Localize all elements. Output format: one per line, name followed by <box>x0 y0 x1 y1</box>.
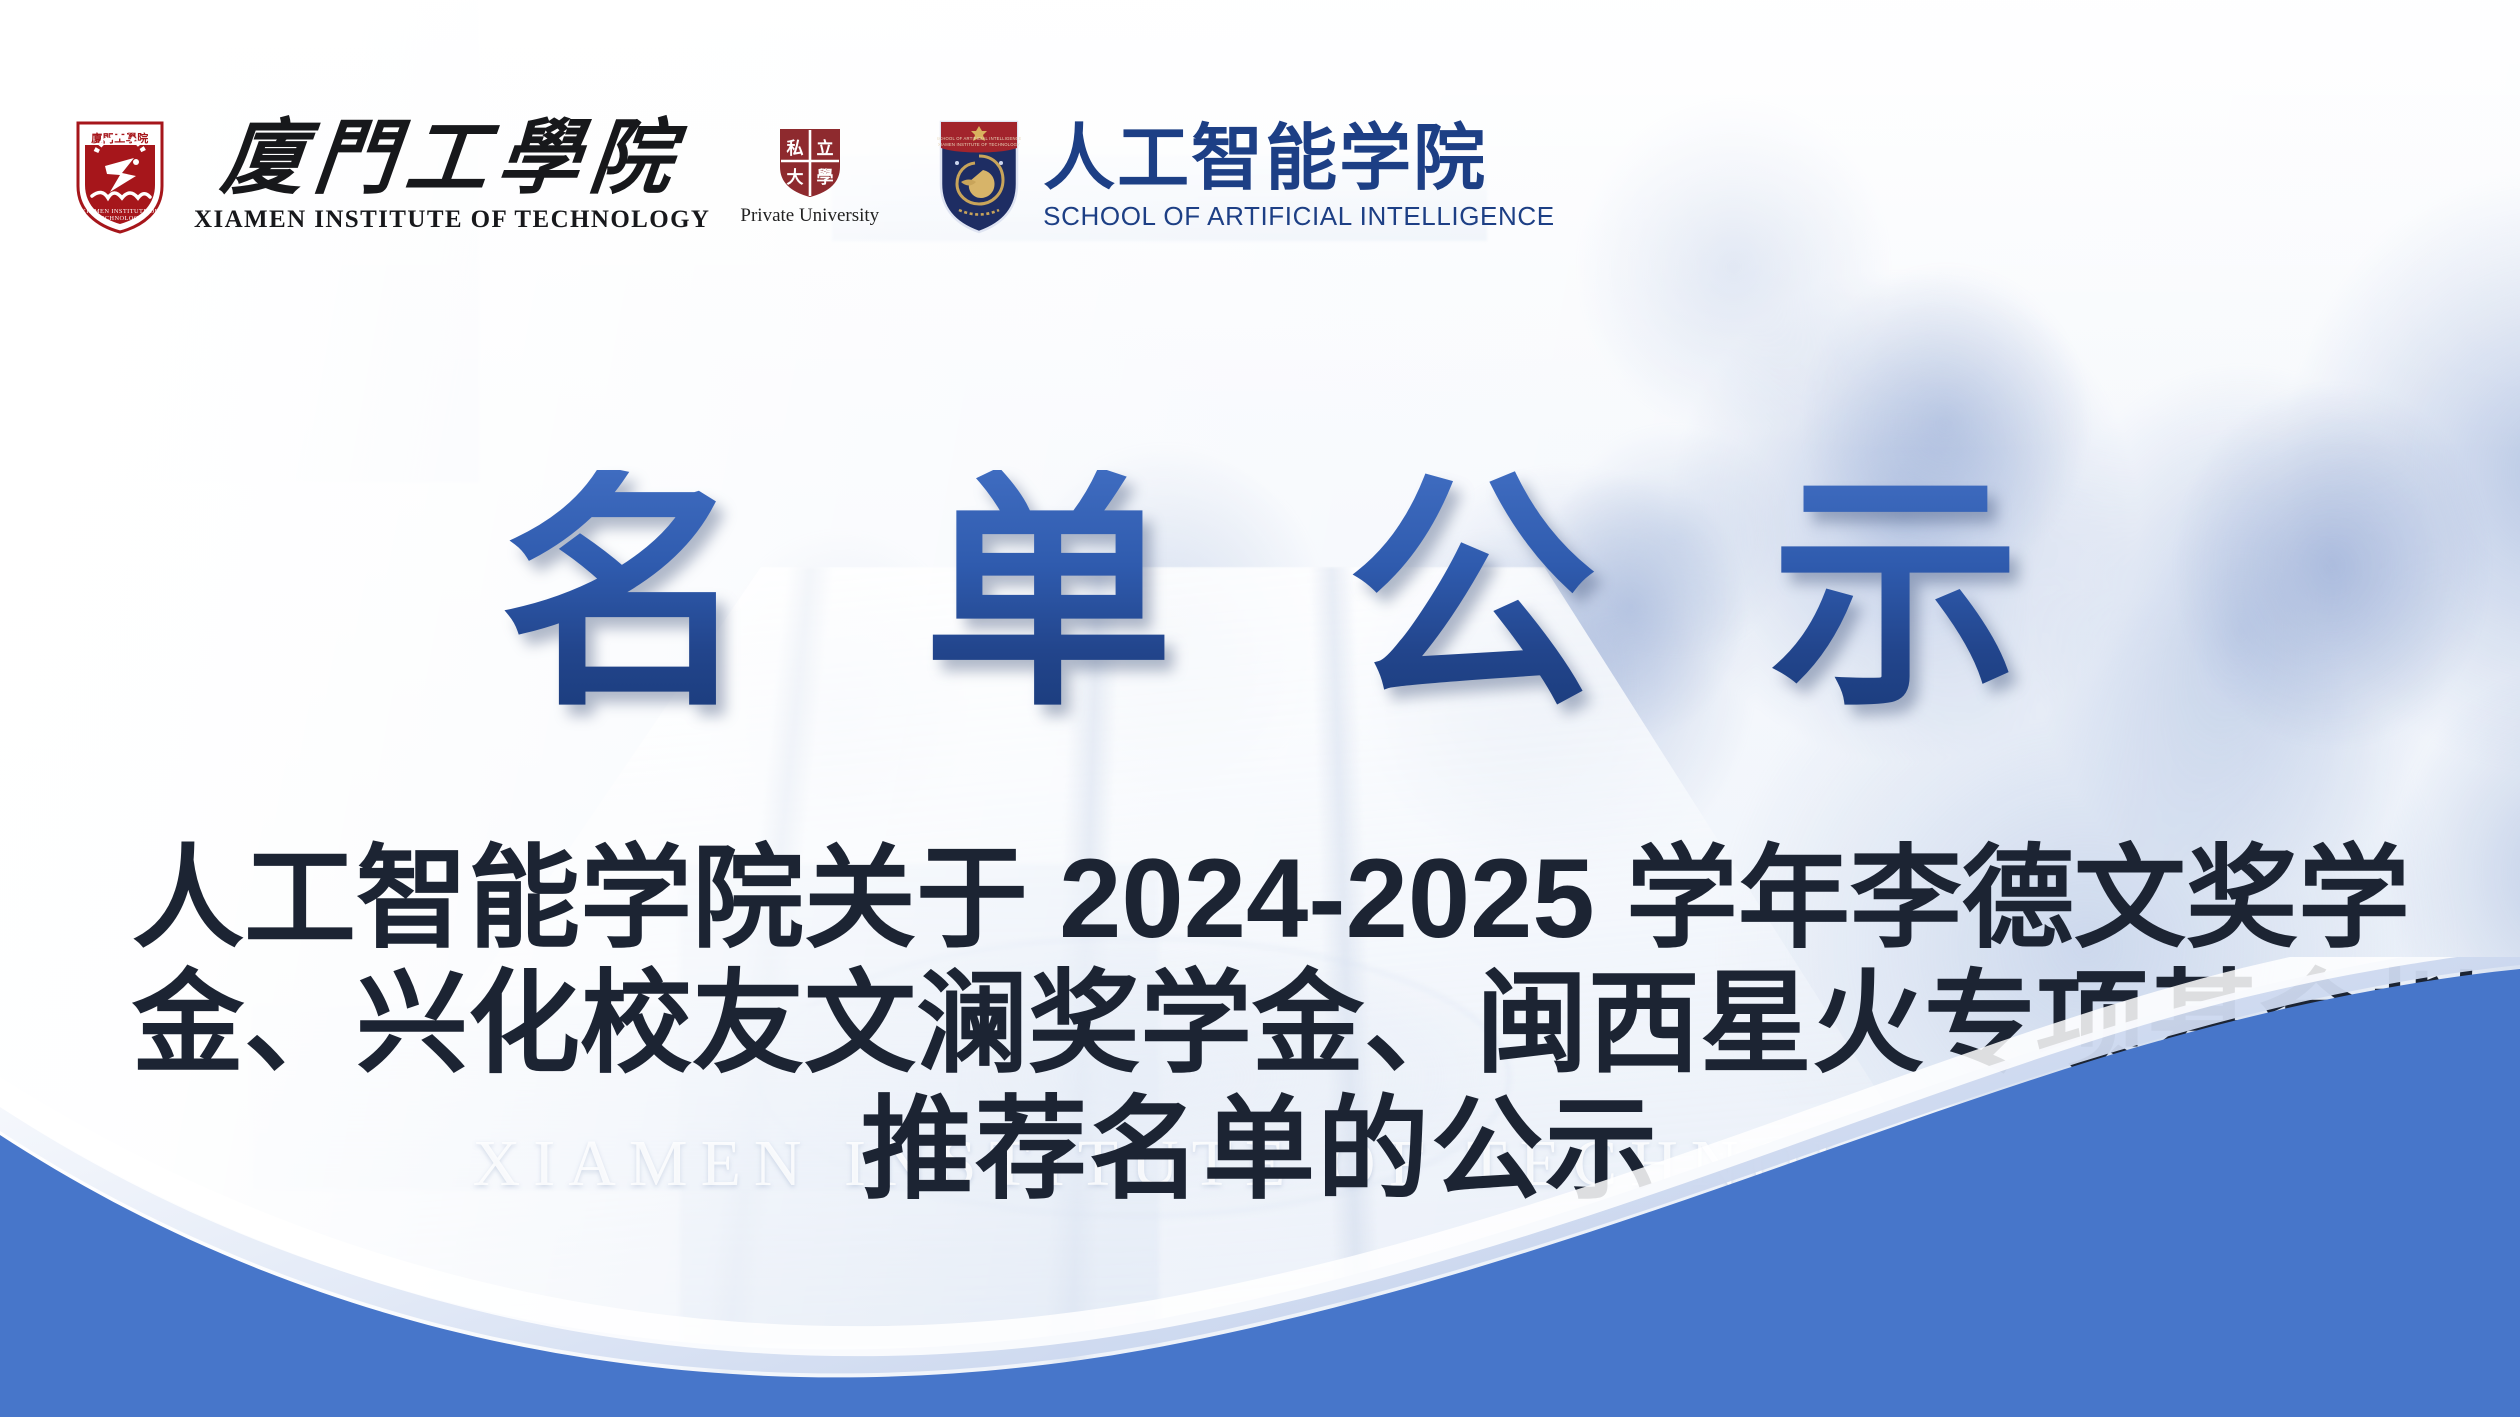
private-university-label: Private University <box>740 205 879 227</box>
svg-text:學: 學 <box>816 168 833 187</box>
svg-text:私: 私 <box>786 139 803 158</box>
ai-school-shield-icon: SCHOOL OF ARTIFICIAL INTELLIGENCE XIAMEN… <box>937 118 1021 236</box>
university-name-cn: 廈門工學院 <box>218 120 686 199</box>
main-title: 名 单 公 示 <box>0 470 2520 720</box>
svg-text:XIAMEN INSTITUTE OF TECHNOLOGY: XIAMEN INSTITUTE OF TECHNOLOGY <box>938 142 1020 147</box>
svg-text:大: 大 <box>786 167 803 187</box>
university-wordmark: 廈門工學院 XIAMEN INSTITUTE OF TECHNOLOGY <box>194 120 710 235</box>
school-name-en: SCHOOL OF ARTIFICIAL INTELLIGENCE <box>1043 201 1555 232</box>
svg-text:TECHNOLOGY: TECHNOLOGY <box>96 215 144 222</box>
svg-text:立: 立 <box>816 138 833 158</box>
poster-canvas: XIAMEN INSTITUTE OF TECHNOLOGY 廈門工學院 XIA… <box>0 0 2520 1417</box>
bottom-wave-decoration <box>0 957 2520 1417</box>
svg-text:XIAMEN INSTITUTE OF: XIAMEN INSTITUTE OF <box>81 208 158 215</box>
university-name-en: XIAMEN INSTITUTE OF TECHNOLOGY <box>194 206 710 234</box>
private-university-seal-icon: 私 立 大 學 Private University <box>740 127 879 227</box>
subtitle-line-1: 人工智能学院关于 2024-2025 学年李德文奖学 <box>132 836 2388 961</box>
svg-text:SCHOOL OF ARTIFICIAL INTELLIGE: SCHOOL OF ARTIFICIAL INTELLIGENCE <box>937 136 1021 141</box>
school-name-cn: 人工智能学院 <box>1043 123 1487 195</box>
school-wordmark: 人工智能学院 SCHOOL OF ARTIFICIAL INTELLIGENCE <box>1043 123 1555 232</box>
logo-bar: 廈門工學院 XIAMEN INSTITUTE OF TECHNOLOGY 廈門工… <box>72 118 1555 236</box>
xmut-crest-icon: 廈門工學院 XIAMEN INSTITUTE OF TECHNOLOGY <box>72 118 168 236</box>
